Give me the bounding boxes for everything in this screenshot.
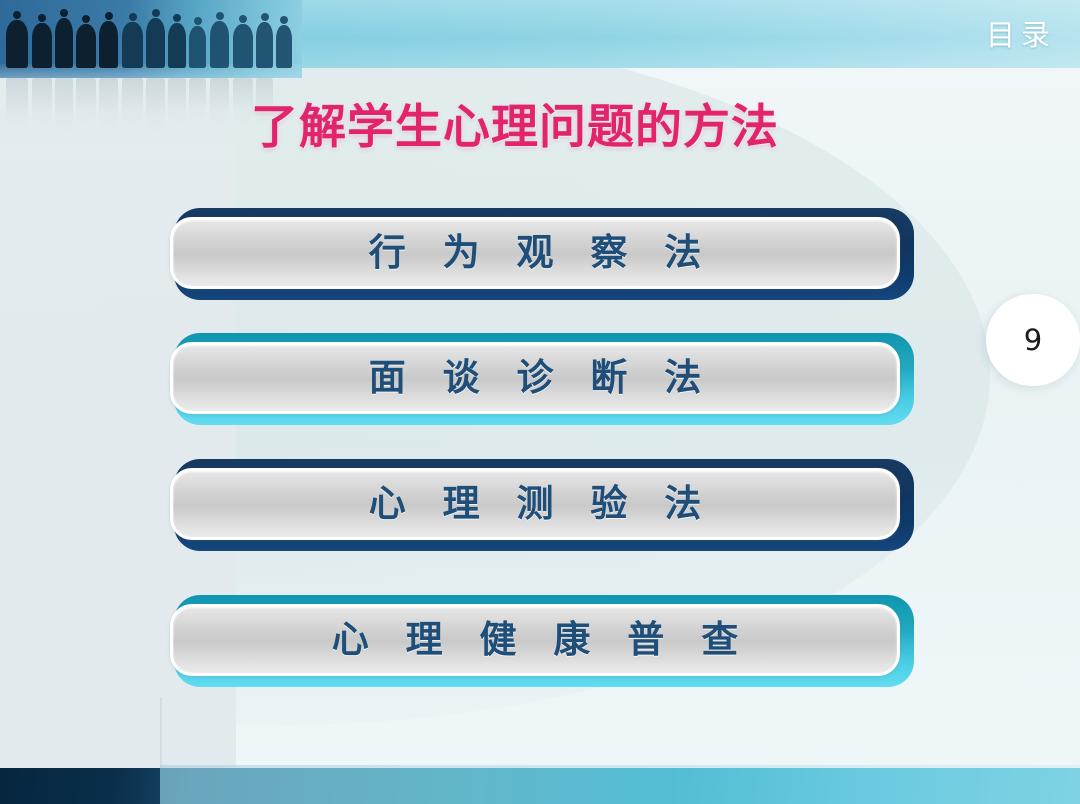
method-item-1[interactable]: 行 为 观 察 法 (170, 208, 910, 300)
method-label: 心 理 测 验 法 (357, 482, 714, 526)
silhouette-figure (76, 24, 96, 68)
method-item-3[interactable]: 心 理 测 验 法 (170, 459, 910, 551)
silhouette-figure (168, 23, 186, 68)
silhouette-figure (6, 20, 28, 68)
silhouette-photo-strip (0, 0, 302, 78)
silhouette-figure (189, 26, 206, 68)
footer-bar-dark-segment (0, 768, 160, 804)
method-face[interactable]: 行 为 观 察 法 (170, 217, 900, 289)
silhouette-figure (256, 22, 273, 68)
method-label: 行 为 观 察 法 (357, 231, 714, 275)
page-title: 了解学生心理问题的方法 (0, 99, 1030, 157)
presentation-slide: 目录 了解学生心理问题的方法 行 为 观 察 法 (0, 0, 1080, 804)
method-item-2[interactable]: 面 谈 诊 断 法 (170, 333, 910, 425)
silhouette-figure (276, 25, 292, 68)
silhouette-figure (146, 18, 165, 68)
method-item-4[interactable]: 心 理 健 康 普 查 (170, 595, 910, 687)
silhouette-figure (210, 21, 229, 68)
page-number: 9 (1024, 323, 1042, 357)
silhouette-figure (32, 23, 52, 68)
silhouette-figure (233, 24, 253, 68)
left-panel-edge (160, 697, 162, 768)
page-number-badge: 9 (986, 294, 1080, 386)
header-section-label: 目录 (986, 18, 1056, 52)
method-label: 面 谈 诊 断 法 (357, 356, 714, 400)
silhouette-figure (122, 22, 143, 68)
silhouette-figure (99, 21, 118, 68)
method-face[interactable]: 心 理 测 验 法 (170, 468, 900, 540)
method-face[interactable]: 面 谈 诊 断 法 (170, 342, 900, 414)
silhouette-figure (55, 18, 73, 68)
method-face[interactable]: 心 理 健 康 普 查 (170, 604, 900, 676)
footer-bar (0, 768, 1080, 804)
method-label: 心 理 健 康 普 查 (320, 618, 750, 662)
